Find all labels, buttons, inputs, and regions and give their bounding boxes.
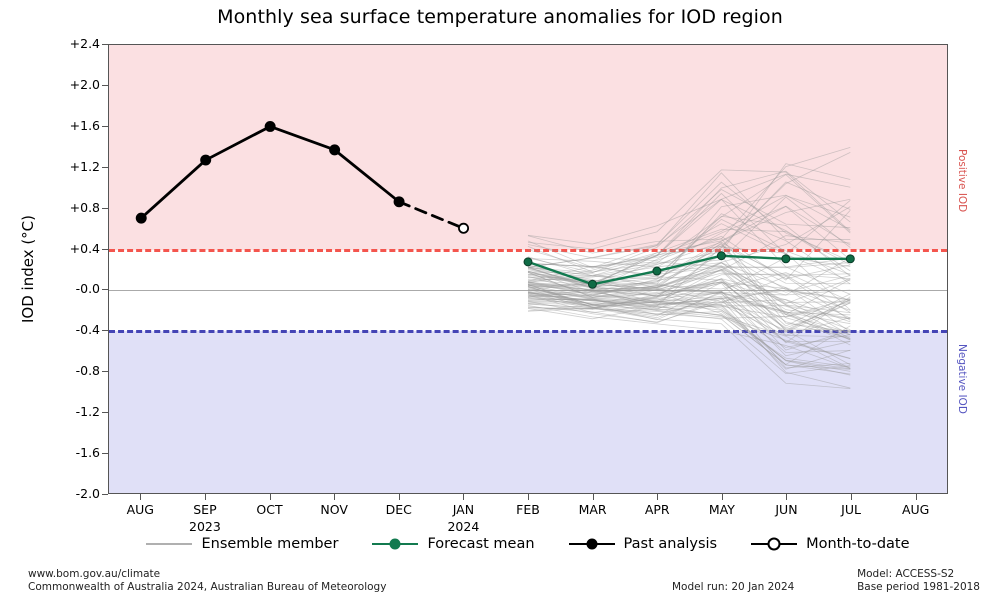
x-tick-mark	[851, 494, 852, 500]
x-tick-mark	[528, 494, 529, 500]
y-tick-label: +0.8	[46, 200, 100, 215]
data-point	[653, 267, 661, 275]
footer-right: Model: ACCESS-S2 Base period 1981-2018	[857, 568, 980, 594]
legend-label-ensemble-member: Ensemble member	[201, 536, 338, 552]
legend-item-month-to-date: Month-to-date	[751, 536, 909, 552]
data-point	[717, 252, 725, 260]
data-point	[201, 155, 211, 165]
y-tick-label: -0.4	[46, 322, 100, 337]
y-tick-label: +2.0	[46, 77, 100, 92]
y-tick-label: +1.6	[46, 118, 100, 133]
legend-item-forecast-mean: Forecast mean	[372, 536, 534, 552]
x-tick-mark	[205, 494, 206, 500]
page-title: Monthly sea surface temperature anomalie…	[0, 6, 1000, 28]
legend-label-month-to-date: Month-to-date	[806, 536, 909, 552]
legend-swatch-past-analysis	[569, 537, 615, 551]
series-month-to-date	[399, 202, 468, 233]
x-tick-label: AUG	[876, 502, 956, 517]
legend-marker-forecast-mean	[390, 539, 401, 550]
y-tick-label: +0.4	[46, 241, 100, 256]
y-tick-label: -1.2	[46, 404, 100, 419]
y-tick-label: +1.2	[46, 159, 100, 174]
y-tick-label: -1.6	[46, 445, 100, 460]
footer-model-run: Model run: 20 Jan 2024	[672, 581, 794, 593]
legend-marker-month-to-date	[768, 538, 781, 551]
data-point	[524, 258, 532, 266]
plot-area	[108, 44, 948, 494]
footer-left: www.bom.gov.au/climate Commonwealth of A…	[28, 568, 386, 594]
series-overlay	[109, 45, 947, 493]
series-past-analysis	[136, 121, 404, 223]
y-tick-label: -0.0	[46, 281, 100, 296]
x-tick-mark	[916, 494, 917, 500]
legend-label-past-analysis: Past analysis	[624, 536, 718, 552]
legend-item-past-analysis: Past analysis	[569, 536, 718, 552]
data-point	[265, 121, 275, 131]
y-tick-label: -0.8	[46, 363, 100, 378]
data-point	[846, 255, 854, 263]
month-to-date-point	[459, 224, 468, 233]
x-tick-mark	[593, 494, 594, 500]
x-tick-mark	[786, 494, 787, 500]
x-tick-mark	[334, 494, 335, 500]
footer-copyright: Commonwealth of Australia 2024, Australi…	[28, 581, 386, 594]
x-tick-mark	[270, 494, 271, 500]
legend-swatch-month-to-date	[751, 537, 797, 551]
legend-swatch-ensemble-member	[146, 537, 192, 551]
legend-item-ensemble-member: Ensemble member	[146, 536, 338, 552]
data-point	[330, 145, 340, 155]
data-point	[136, 213, 146, 223]
footer-url: www.bom.gov.au/climate	[28, 568, 386, 581]
data-point	[588, 280, 596, 288]
legend-label-forecast-mean: Forecast mean	[427, 536, 534, 552]
x-tick-mark	[140, 494, 141, 500]
negative-iod-side-label: Negative IOD	[956, 344, 968, 414]
footer-model: Model: ACCESS-S2	[857, 568, 980, 581]
chart-legend: Ensemble memberForecast meanPast analysi…	[108, 530, 948, 558]
legend-swatch-forecast-mean	[372, 537, 418, 551]
positive-iod-side-label: Positive IOD	[956, 149, 968, 212]
y-tick-label: -2.0	[46, 486, 100, 501]
x-tick-mark	[399, 494, 400, 500]
chart-page: Monthly sea surface temperature anomalie…	[0, 0, 1000, 600]
x-tick-mark	[722, 494, 723, 500]
footer-base-period: Base period 1981-2018	[857, 581, 980, 594]
y-tick-label: +2.4	[46, 36, 100, 51]
x-tick-mark	[657, 494, 658, 500]
legend-marker-past-analysis	[586, 539, 597, 550]
y-tick-mark	[102, 494, 108, 495]
y-axis-label-text: IOD index (°C)	[19, 215, 37, 323]
ensemble-members	[528, 147, 850, 388]
footer: www.bom.gov.au/climate Commonwealth of A…	[0, 565, 1000, 600]
y-axis-label: IOD index (°C)	[16, 44, 40, 494]
data-point	[782, 255, 790, 263]
x-tick-mark	[463, 494, 464, 500]
